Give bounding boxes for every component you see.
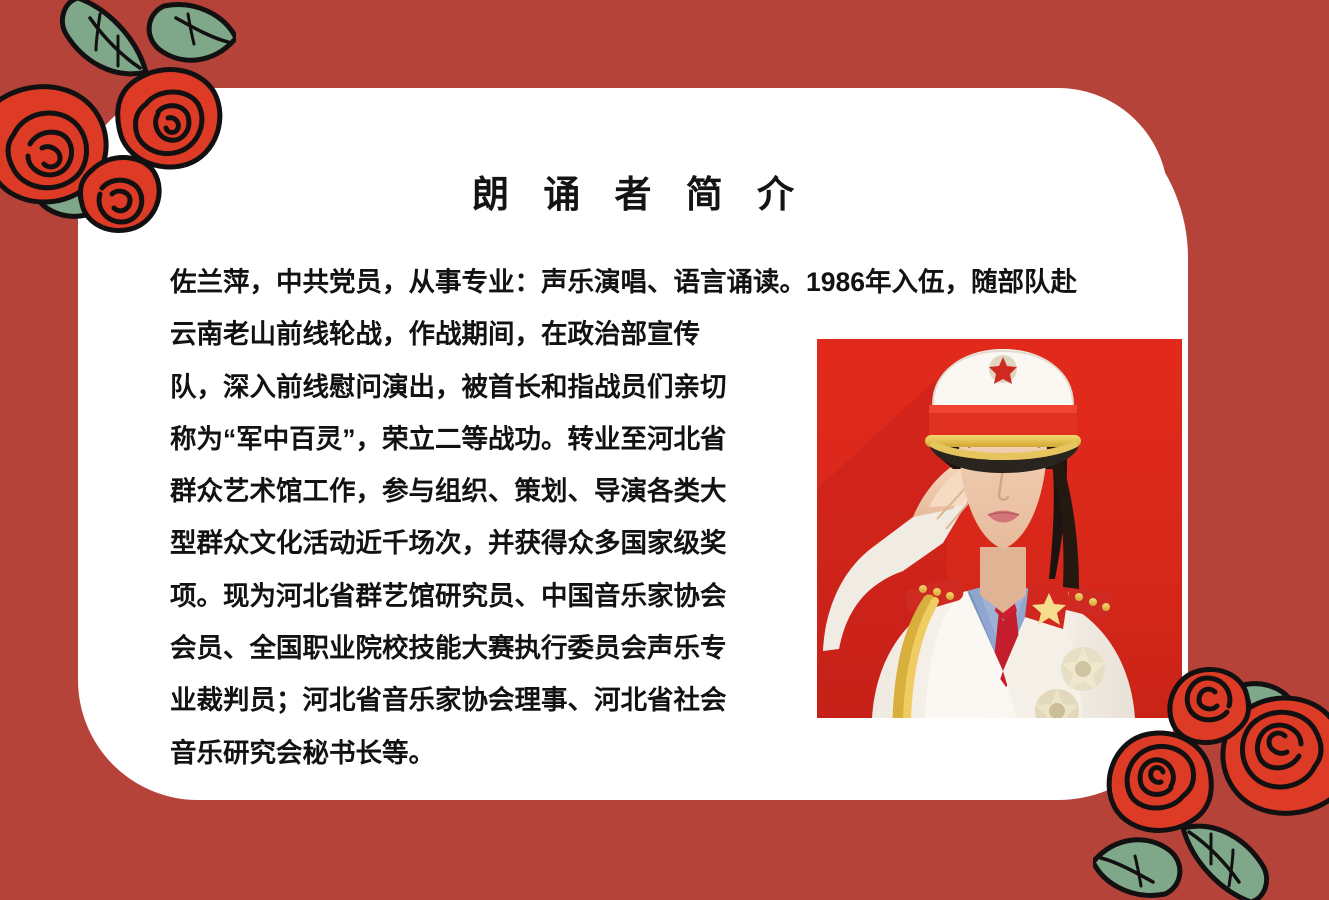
rose-cluster-icon (1093, 666, 1329, 900)
profile-line: 云南老山前线轮战，作战期间，在政治部宣传 (170, 308, 790, 360)
profile-line: 项。现为河北省群艺馆研究员、中国音乐家协会 (170, 570, 790, 622)
profile-line: 队，深入前线慰问演出，被首长和指战员们亲切 (170, 361, 790, 413)
profile-line: 群众艺术馆工作，参与组织、策划、导演各类大 (170, 465, 790, 517)
profile-line: 称为“军中百灵”，荣立二等战功。转业至河北省 (170, 413, 790, 465)
slide-canvas: 朗 诵 者 简 介 佐兰萍，中共党员，从事专业：声乐演唱、语言诵读。1986年入… (0, 0, 1329, 900)
profile-line: 音乐研究会秘书长等。 (170, 727, 790, 779)
profile-line: 会员、全国职业院校技能大赛执行委员会声乐专 (170, 622, 790, 674)
portrait-photo (817, 339, 1182, 718)
profile-line: 佐兰萍，中共党员，从事专业：声乐演唱、语言诵读。1986年入伍，随部队赴 (170, 256, 1175, 308)
rose-cluster-icon (0, 0, 236, 234)
page-title: 朗 诵 者 简 介 (78, 172, 1188, 218)
profile-line: 型群众文化活动近千场次，并获得众多国家级奖 (170, 517, 790, 569)
profile-line: 业裁判员；河北省音乐家协会理事、河北省社会 (170, 674, 790, 726)
